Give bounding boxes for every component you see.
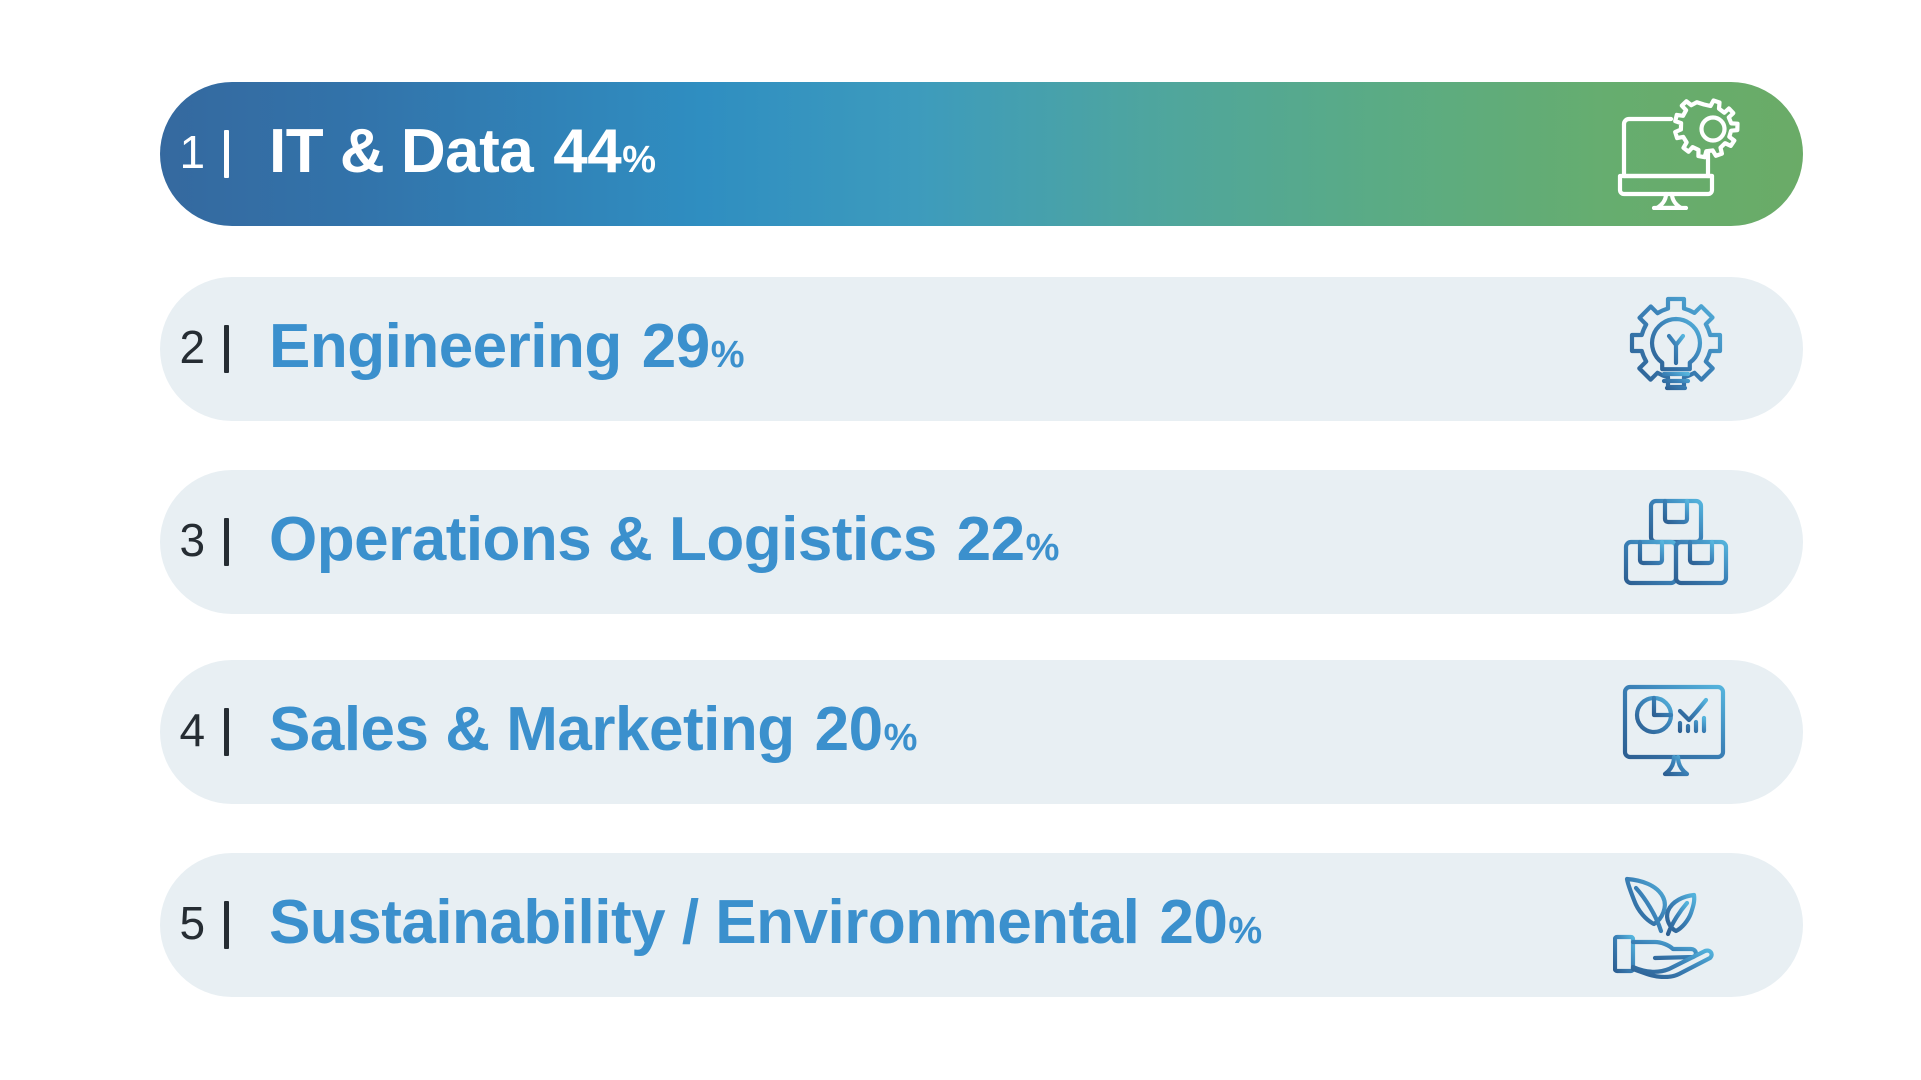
rank-percent-sign: %	[884, 719, 917, 757]
rank-category-name: Sales & Marketing	[269, 699, 795, 761]
rank-category-name: Sustainability / Environmental	[269, 892, 1139, 954]
rank-label: Sales & Marketing 20 %	[269, 699, 1583, 765]
hand-leaves-icon	[1601, 865, 1751, 985]
rank-number: 4	[160, 707, 224, 757]
rank-percent-sign: %	[1228, 912, 1261, 950]
rank-number: 5	[160, 900, 224, 950]
stacked-boxes-icon	[1601, 482, 1751, 602]
rank-divider	[224, 708, 229, 756]
rank-divider	[224, 518, 229, 566]
rank-divider	[224, 130, 229, 178]
rank-percent-sign: %	[622, 141, 655, 179]
rank-label: Operations & Logistics 22 %	[269, 509, 1583, 575]
gear-lightbulb-icon	[1601, 289, 1751, 409]
rank-row-5[interactable]: 5 Sustainability / Environmental 20 %	[160, 853, 1803, 997]
rank-label: Sustainability / Environmental 20 %	[269, 892, 1583, 958]
rank-percent-sign: %	[1026, 529, 1059, 567]
monitor-analytics-icon	[1601, 672, 1751, 792]
rank-number: 3	[160, 517, 224, 567]
rank-percent-sign: %	[711, 336, 744, 374]
rank-category-name: Operations & Logistics	[269, 509, 937, 571]
monitor-gear-icon	[1601, 94, 1751, 214]
rank-number: 1	[160, 129, 224, 179]
rank-value: 22	[957, 509, 1025, 571]
rank-category-name: IT & Data	[269, 121, 533, 183]
rank-divider	[224, 901, 229, 949]
rank-row-3[interactable]: 3 Operations & Logistics 22 %	[160, 470, 1803, 614]
rank-category-name: Engineering	[269, 316, 622, 378]
rank-value: 20	[815, 699, 883, 761]
rank-row-4[interactable]: 4 Sales & Marketing 20 %	[160, 660, 1803, 804]
rank-value: 44	[553, 121, 621, 183]
rank-row-1[interactable]: 1 IT & Data 44 %	[160, 82, 1803, 226]
rank-value: 29	[642, 316, 710, 378]
rank-value: 20	[1159, 892, 1227, 954]
rank-row-2[interactable]: 2 Engineering 29 %	[160, 277, 1803, 421]
rank-label: Engineering 29 %	[269, 316, 1583, 382]
rank-number: 2	[160, 324, 224, 374]
rank-divider	[224, 325, 229, 373]
rank-label: IT & Data 44 %	[269, 121, 1583, 187]
ranking-board: 1 IT & Data 44 % 2 Engineering	[0, 0, 1921, 1080]
